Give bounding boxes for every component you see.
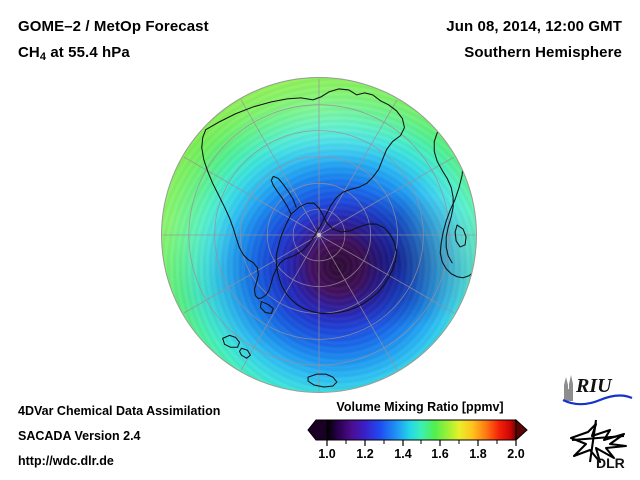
colorbar-tick-labels: 1.0 1.2 1.4 1.6 1.8 2.0: [300, 447, 540, 467]
colorbar-tick-5: 2.0: [507, 447, 524, 461]
instrument-title: GOME–2 / MetOp Forecast: [18, 18, 209, 35]
colorbar-tick-1: 1.2: [356, 447, 373, 461]
method-label: 4DVar Chemical Data Assimilation: [18, 404, 220, 418]
website-url[interactable]: http://wdc.dlr.de: [18, 454, 114, 468]
pressure-level: at 55.4 hPa: [46, 44, 130, 61]
colorbar-tick-3: 1.6: [431, 447, 448, 461]
colorbar: Volume Mixing Ratio [ppmv]: [300, 400, 540, 472]
riu-wordmark: RIU: [575, 375, 613, 397]
globe-disc: [161, 77, 477, 393]
riu-logo: RIU: [560, 371, 634, 407]
hemisphere-label: Southern Hemisphere: [464, 44, 622, 61]
colorbar-tick-0: 1.0: [318, 447, 335, 461]
species-level-title: CH4 at 55.4 hPa: [18, 44, 130, 63]
colorbar-title: Volume Mixing Ratio [ppmv]: [300, 400, 540, 414]
colorbar-tick-4: 1.8: [469, 447, 486, 461]
species-prefix: CH: [18, 44, 40, 61]
version-label: SACADA Version 2.4: [18, 429, 141, 443]
datetime-label: Jun 08, 2014, 12:00 GMT: [446, 18, 622, 35]
cathedral-icon: [564, 375, 573, 401]
map-globe: [161, 77, 477, 393]
dlr-wordmark: DLR: [596, 455, 625, 470]
limb-shading: [162, 78, 476, 392]
dlr-logo: DLR: [566, 414, 632, 470]
colorbar-scale: [300, 417, 540, 447]
colorbar-tick-2: 1.4: [394, 447, 411, 461]
